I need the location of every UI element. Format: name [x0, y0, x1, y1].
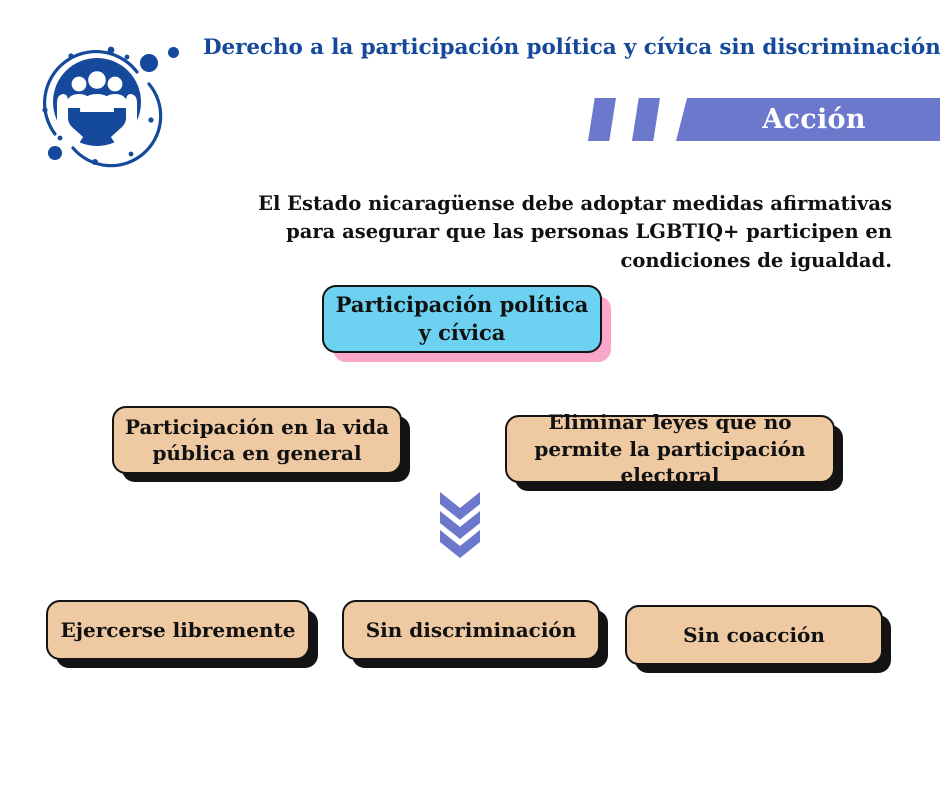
page-title: Derecho a la participación política y cí…: [203, 36, 940, 61]
people-in-hands-icon: [33, 38, 167, 172]
diagram-node-participacion-vida-publica: Participación en la vida pública en gene…: [112, 406, 402, 474]
bullet-point-icon: [168, 47, 179, 58]
diagram-node-sin-coaccion: Sin coacción: [625, 605, 883, 665]
diagram-node-ejercerse-libremente: Ejercerse libremente: [46, 600, 310, 660]
diagram-node-main: Participación política y cívica: [322, 285, 602, 353]
triple-chevron-down-icon: [436, 490, 484, 562]
header-row: Derecho a la participación política y cí…: [168, 36, 898, 61]
diagram-node-eliminar-leyes: Eliminar leyes que no permite la partici…: [505, 415, 835, 483]
banner-slash-1-icon: [588, 98, 616, 141]
diagram-node-b2-label: Sin discriminación: [366, 617, 577, 643]
diagram-node-b3-label: Sin coacción: [683, 622, 825, 648]
accion-banner: Acción: [588, 98, 940, 141]
banner-slash-2-icon: [632, 98, 660, 141]
organization-logo: [33, 38, 167, 172]
banner-label: Acción: [676, 98, 940, 141]
intro-paragraph: El Estado nicaragüense debe adoptar medi…: [232, 190, 892, 277]
diagram-node-b1-label: Ejercerse libremente: [61, 617, 296, 643]
diagram-node-sin-discriminacion: Sin discriminación: [342, 600, 600, 660]
diagram-node-right-label: Eliminar leyes que no permite la partici…: [517, 409, 823, 488]
diagram-node-main-label: Participación política y cívica: [334, 291, 590, 346]
diagram-node-left-label: Participación en la vida pública en gene…: [124, 414, 390, 467]
